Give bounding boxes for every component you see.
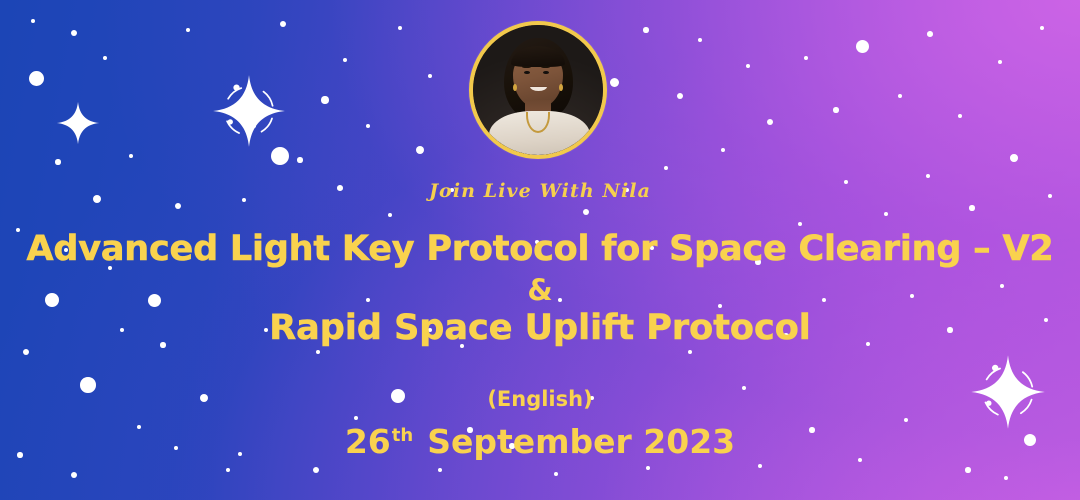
event-date-month-year: September 2023 [427, 422, 735, 461]
star-dot [583, 209, 589, 215]
star-dot [71, 30, 78, 37]
presenter-handle: Join Live With Nila [0, 180, 1080, 202]
title-block: Advanced Light Key Protocol for Space Cl… [0, 232, 1080, 346]
star-dot [313, 467, 319, 473]
star-dot [554, 472, 558, 476]
star-dot [343, 58, 347, 62]
star-dot [31, 19, 35, 23]
star-dot [856, 40, 869, 53]
star-dot [186, 28, 190, 32]
star-dot [643, 27, 648, 32]
star-dot [71, 472, 77, 478]
star-dot [129, 154, 134, 159]
star-dot [226, 468, 230, 472]
star-dot [677, 93, 683, 99]
star-dot [926, 174, 930, 178]
star-dot [1004, 476, 1008, 480]
event-date-ordinal: th [392, 425, 413, 446]
star-dot [664, 166, 668, 170]
star-dot [321, 96, 328, 103]
star-dot [354, 416, 358, 420]
star-dot [721, 148, 726, 153]
star-dot [175, 203, 181, 209]
star-dot [646, 466, 651, 471]
star-dot [969, 205, 974, 210]
star-dot [884, 212, 889, 217]
portrait-eye-right [543, 71, 549, 74]
presenter-photo [473, 25, 603, 155]
star-dot [366, 124, 370, 128]
star-dot [746, 64, 750, 68]
star-dot [297, 157, 302, 162]
star-dot [798, 222, 802, 226]
star-dot [958, 114, 962, 118]
star-dot [438, 468, 442, 472]
event-title-line-1: Advanced Light Key Protocol for Space Cl… [0, 232, 1080, 267]
star-dot [416, 146, 425, 155]
event-date: 26thSeptember 2023 [0, 422, 1080, 461]
star-dot [388, 213, 392, 217]
star-dot [280, 21, 286, 27]
star-dot [316, 350, 320, 354]
star-dot [252, 124, 256, 128]
star-dot [758, 464, 762, 468]
star-dot [271, 147, 289, 165]
star-dot [55, 159, 60, 164]
star-dot [1010, 154, 1018, 162]
event-title-line-2: Rapid Space Uplift Protocol [0, 311, 1080, 346]
star-dot [23, 349, 29, 355]
star-dot [965, 467, 970, 472]
star-dot [698, 38, 702, 42]
star-dot [804, 56, 808, 60]
sparkle-small-left-icon [55, 100, 101, 146]
event-title-ampersand: & [0, 276, 1080, 305]
portrait-earring-left [513, 84, 517, 91]
portrait-eye-left [524, 71, 530, 74]
portrait-earring-right [559, 84, 563, 91]
star-dot [29, 71, 44, 86]
star-dot [898, 94, 902, 98]
event-date-day: 26 [345, 422, 391, 461]
star-dot [103, 56, 107, 60]
star-dot [428, 74, 432, 78]
star-dot [998, 60, 1003, 65]
star-dot [688, 350, 693, 355]
presenter-avatar [469, 21, 607, 159]
star-dot [767, 119, 774, 126]
star-dot [833, 107, 838, 112]
star-dot [398, 26, 403, 31]
portrait-brow-left [522, 66, 531, 68]
event-language: (English) [0, 387, 1080, 411]
webinar-banner: Join Live With Nila Advanced Light Key P… [0, 0, 1080, 500]
sparkle-large-left-icon [210, 72, 288, 150]
star-dot [1040, 26, 1044, 30]
star-dot [610, 78, 619, 87]
star-dot [927, 31, 933, 37]
